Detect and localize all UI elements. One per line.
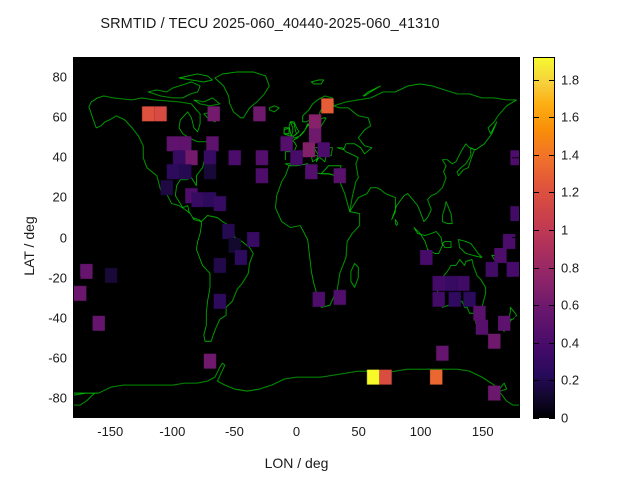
y-axis-label: LAT / deg: [21, 186, 37, 306]
heatmap-cell-layer: [74, 58, 519, 417]
y-tick-label: 60: [53, 110, 67, 125]
colorbar-tick-mark: [533, 418, 539, 419]
colorbar-tick-label: 1.6: [561, 110, 579, 125]
y-tick-label: 40: [53, 150, 67, 165]
y-tick-label: 20: [53, 190, 67, 205]
colorbar-tick-label: 1.2: [561, 185, 579, 200]
y-tick-label: -20: [48, 270, 67, 285]
chart-title: SRMTID / TECU 2025-060_40440-2025-060_41…: [0, 16, 540, 32]
colorbar-tick-mark: [549, 343, 555, 344]
colorbar-tick-label: 1.8: [561, 72, 579, 87]
colorbar-tick-label: 1.4: [561, 147, 579, 162]
x-tick-label: -50: [225, 424, 244, 439]
y-tick-label: -40: [48, 310, 67, 325]
colorbar-tick-mark: [549, 305, 555, 306]
colorbar-tick-mark: [533, 117, 539, 118]
x-tick-label: 50: [351, 424, 365, 439]
colorbar-tick-mark: [533, 380, 539, 381]
colorbar-tick-mark: [533, 268, 539, 269]
colorbar: [533, 57, 555, 418]
x-tick-label: -100: [159, 424, 185, 439]
colorbar-tick-mark: [533, 192, 539, 193]
x-tick-label: 150: [472, 424, 494, 439]
y-tick-label: 80: [53, 70, 67, 85]
x-tick-label: 0: [293, 424, 300, 439]
figure-canvas: SRMTID / TECU 2025-060_40440-2025-060_41…: [0, 0, 640, 480]
colorbar-tick-label: 1: [561, 222, 568, 237]
colorbar-tick-mark: [549, 268, 555, 269]
colorbar-tick-mark: [549, 418, 555, 419]
colorbar-tick-mark: [533, 80, 539, 81]
colorbar-tick-mark: [549, 117, 555, 118]
colorbar-tick-mark: [549, 155, 555, 156]
colorbar-tick-mark: [549, 80, 555, 81]
colorbar-tick-mark: [533, 230, 539, 231]
map-plot-area[interactable]: [73, 57, 520, 418]
colorbar-tick-mark: [549, 380, 555, 381]
colorbar-tick-mark: [533, 155, 539, 156]
colorbar-tick-mark: [533, 305, 539, 306]
colorbar-tick-label: 0.4: [561, 335, 579, 350]
colorbar-tick-mark: [549, 192, 555, 193]
colorbar-tick-mark: [549, 230, 555, 231]
x-tick-label: 100: [410, 424, 432, 439]
y-tick-label: -80: [48, 390, 67, 405]
colorbar-tick-label: 0.2: [561, 373, 579, 388]
colorbar-tick-mark: [533, 343, 539, 344]
y-tick-label: 0: [60, 230, 67, 245]
y-tick-label: -60: [48, 350, 67, 365]
x-axis-label: LON / deg: [73, 455, 520, 471]
x-tick-label: -150: [97, 424, 123, 439]
colorbar-tick-label: 0.6: [561, 298, 579, 313]
colorbar-tick-label: 0: [561, 411, 568, 426]
colorbar-tick-label: 0.8: [561, 260, 579, 275]
